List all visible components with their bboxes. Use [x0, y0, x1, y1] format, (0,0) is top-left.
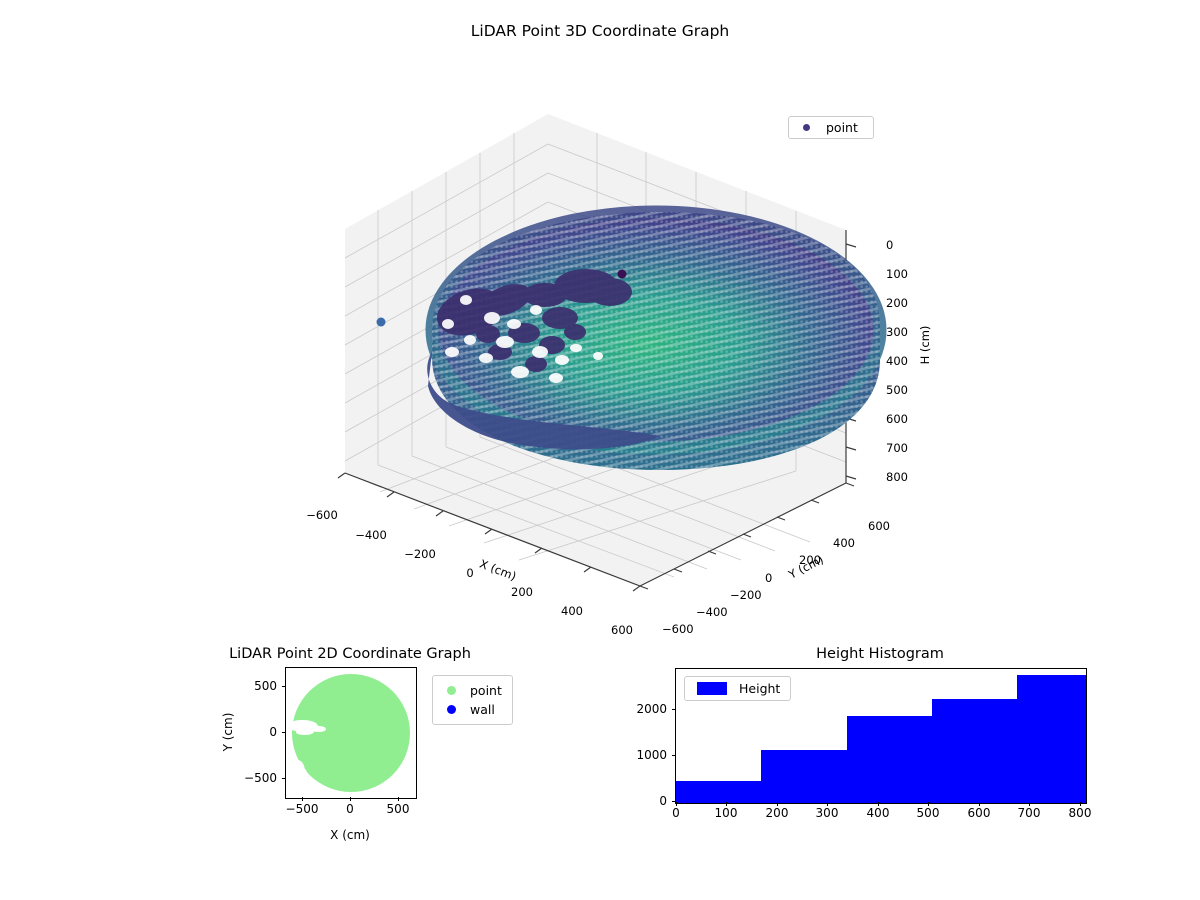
x-tick-label: 400: [867, 806, 890, 820]
z-tick-label: 600: [886, 412, 908, 426]
legend-row-point: point: [439, 681, 502, 700]
y-tick-label: 1000: [636, 748, 667, 762]
histogram-legend: Height: [684, 676, 791, 701]
x-tick-label: 600: [611, 623, 633, 637]
y-tick-mark: [672, 755, 676, 756]
histogram-bar: [847, 716, 932, 803]
x-tick-mark: [777, 802, 778, 806]
x-tick-label: 500: [387, 802, 410, 816]
outlier-point-top: [618, 270, 627, 279]
y-tick-label: −200: [730, 588, 762, 602]
plot-2d-axes[interactable]: [285, 667, 417, 799]
x-tick-mark: [302, 797, 303, 801]
y-tick-label: 0: [269, 725, 277, 739]
histogram-bar: [932, 699, 1017, 803]
x-tick-label: 300: [816, 806, 839, 820]
y-tick-label: −500: [244, 771, 277, 785]
y-tick-label: −600: [662, 622, 694, 636]
legend-point-label: point: [470, 683, 502, 698]
z-tick-label: 200: [886, 296, 908, 310]
z-tick-label: 800: [886, 470, 908, 484]
x-tick-label: −400: [355, 528, 387, 542]
x-tick-mark: [726, 802, 727, 806]
legend-height-label: Height: [739, 681, 780, 696]
y-axis-label: Y (cm): [221, 713, 235, 752]
x-tick-mark: [928, 802, 929, 806]
z-tick-label: 0: [886, 238, 893, 252]
y-tick-mark: [282, 686, 286, 687]
plot-2d-legend: point wall: [432, 675, 513, 725]
x-tick-label: 400: [561, 604, 583, 618]
x-axis-label: X (cm): [330, 828, 370, 842]
legend-height-swatch-icon: [697, 682, 727, 695]
histogram-bar: [676, 781, 761, 803]
x-tick-label: −500: [286, 802, 319, 816]
y-tick-label: −400: [696, 605, 728, 619]
x-tick-mark: [676, 802, 677, 806]
histogram-bar: [761, 750, 847, 803]
x-tick-label: 200: [766, 806, 789, 820]
cloud-notch: [298, 768, 307, 778]
y-tick-mark: [282, 778, 286, 779]
outlier-point-left: [377, 318, 386, 327]
matplotlib-figure: LiDAR Point 3D Coordinate Graph point: [0, 0, 1200, 900]
x-tick-label: 600: [968, 806, 991, 820]
y-tick-label: 0: [659, 794, 667, 808]
legend-wall-marker-icon: [447, 705, 456, 714]
y-tick-label: 0: [765, 571, 772, 585]
y-tick-mark: [282, 732, 286, 733]
x-tick-mark: [878, 802, 879, 806]
x-tick-mark: [1080, 802, 1081, 806]
y-tick-label: 400: [833, 536, 855, 550]
x-tick-label: 0: [346, 802, 354, 816]
y-tick-mark: [672, 801, 676, 802]
x-tick-mark: [827, 802, 828, 806]
z-tick-label: 500: [886, 383, 908, 397]
x-tick-label: 0: [672, 806, 680, 820]
legend-wall-label: wall: [470, 702, 495, 717]
y-tick-label: 2000: [636, 702, 667, 716]
legend-point-marker-icon: [447, 686, 456, 695]
histogram-title: Height Histogram: [816, 646, 944, 662]
x-tick-label: 0: [466, 566, 473, 580]
cloud-notch: [312, 726, 326, 732]
z-axis-label: H (cm): [918, 326, 932, 365]
y-tick-label: 600: [868, 519, 890, 533]
x-tick-label: 700: [1018, 806, 1041, 820]
y-tick-mark: [672, 709, 676, 710]
y-tick-label: 500: [254, 679, 277, 693]
x-tick-label: 500: [917, 806, 940, 820]
histogram-bar: [1017, 675, 1086, 803]
legend-row-wall: wall: [439, 700, 502, 719]
z-tick-label: 300: [886, 325, 908, 339]
x-tick-mark: [1029, 802, 1030, 806]
z-tick-label: 400: [886, 354, 908, 368]
z-tick-label: 700: [886, 441, 908, 455]
x-tick-mark: [979, 802, 980, 806]
z-tick-label: 100: [886, 267, 908, 281]
plot-2d-title: LiDAR Point 2D Coordinate Graph: [229, 646, 471, 662]
x-tick-mark: [398, 797, 399, 801]
x-tick-label: 100: [715, 806, 738, 820]
x-tick-label: −200: [404, 547, 436, 561]
x-tick-label: 200: [511, 585, 533, 599]
plot-3d-canvas: [0, 0, 1200, 640]
x-tick-mark: [350, 797, 351, 801]
x-tick-label: −600: [306, 508, 338, 522]
x-tick-label: 800: [1069, 806, 1092, 820]
